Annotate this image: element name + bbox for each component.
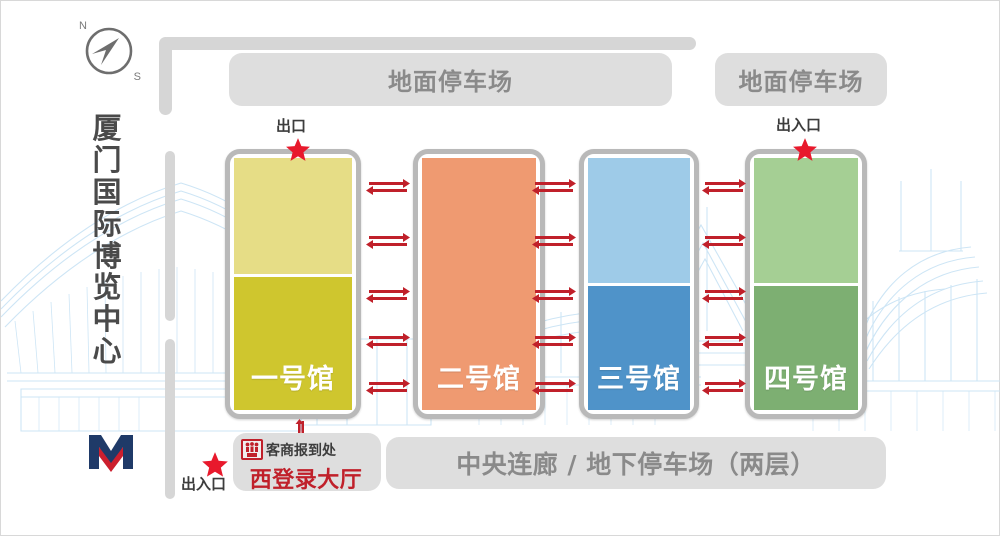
- arrows-between-hall1-hall2: [365, 231, 411, 249]
- road-left-vertical-main: [165, 151, 175, 321]
- hall-2-segment-main: 二号馆: [422, 158, 536, 410]
- parking-label: 地面停车场: [739, 62, 864, 97]
- entrance-exit-hall4-north-star-icon: [792, 137, 818, 163]
- road-left-vertical-lower: [165, 339, 175, 499]
- exit-hall1-north-label: 出口: [276, 115, 306, 136]
- hall-1-segment-lower: 一号馆: [234, 277, 352, 410]
- arrows-between-hall3-hall4: [701, 285, 747, 303]
- hall-3-label: 三号馆: [588, 357, 690, 396]
- hall-4-segment-lower: 四号馆: [754, 286, 858, 411]
- arrows-between-hall1-hall2: [365, 177, 411, 195]
- road-top-horizontal: [161, 37, 696, 50]
- venue-title-char: 际: [84, 209, 130, 241]
- entrance-exit-southwest-label: 出入口: [181, 473, 226, 494]
- surface-parking-north-west: 地面停车场: [229, 53, 672, 106]
- arrows-between-hall3-hall4: [701, 377, 747, 395]
- arrows-between-hall2-hall3: [531, 231, 577, 249]
- corridor-label: 中央连廊 / 地下停车场（两层）: [456, 445, 816, 481]
- arrows-between-hall1-hall2: [365, 377, 411, 395]
- venue-title-char: 博: [84, 241, 130, 273]
- central-corridor-underground-parking: 中央连廊 / 地下停车场（两层）: [386, 437, 886, 489]
- compass-rose: N S: [81, 23, 137, 79]
- arrows-between-hall2-hall3: [531, 331, 577, 349]
- hall-4[interactable]: 四号馆: [745, 149, 867, 419]
- hall-4-label: 四号馆: [754, 357, 858, 396]
- hall-4-segment-upper: [754, 158, 858, 283]
- hall-3-segment-upper: [588, 158, 690, 283]
- hall-1-segment-upper: [234, 158, 352, 274]
- venue-title-char: 厦: [84, 113, 130, 145]
- hall-3[interactable]: 三号馆: [579, 149, 699, 419]
- venue-title-char: 览: [84, 272, 130, 304]
- parking-label: 地面停车场: [388, 62, 513, 97]
- road-left-vertical-upper: [159, 37, 172, 115]
- hall-2-label: 二号馆: [422, 357, 536, 396]
- hall-1-label: 一号馆: [234, 357, 352, 396]
- compass-north-label: N: [79, 20, 87, 32]
- registration-desk-icon: [241, 439, 263, 460]
- hall-3-segment-lower: 三号馆: [588, 286, 690, 411]
- venue-title-char: 门: [84, 145, 130, 177]
- exit-hall1-north-star-icon: [285, 137, 311, 163]
- venue-title: 厦 门 国 际 博 览 中 心: [84, 113, 130, 368]
- hall-2[interactable]: 二号馆: [413, 149, 545, 419]
- registration-main-label: 西登录大厅: [241, 462, 371, 494]
- venue-title-char: 中: [84, 304, 130, 336]
- entrance-exit-hall4-north-label: 出入口: [776, 114, 821, 135]
- arrows-between-hall3-hall4: [701, 231, 747, 249]
- arrows-between-hall2-hall3: [531, 285, 577, 303]
- west-registration-hall[interactable]: 客商报到处 西登录大厅: [233, 433, 381, 491]
- compass-icon: [81, 23, 137, 79]
- venue-logo: [85, 429, 137, 475]
- hall-1[interactable]: 一号馆: [225, 149, 361, 419]
- venue-floor-plan: N S 厦 门 国 际 博 览 中 心 地面停车场 地面停车场 一号馆 二号馆: [0, 0, 1000, 536]
- arrows-between-hall1-hall2: [365, 331, 411, 349]
- surface-parking-north-east: 地面停车场: [715, 53, 887, 106]
- arrows-between-hall3-hall4: [701, 177, 747, 195]
- arrows-between-hall1-hall2: [365, 285, 411, 303]
- arrows-between-hall2-hall3: [531, 377, 577, 395]
- compass-south-label: S: [134, 71, 141, 83]
- venue-title-char: 心: [84, 336, 130, 368]
- arrows-between-hall3-hall4: [701, 331, 747, 349]
- arrows-between-hall2-hall3: [531, 177, 577, 195]
- registration-sub-label: 客商报到处: [266, 440, 336, 460]
- venue-title-char: 国: [84, 177, 130, 209]
